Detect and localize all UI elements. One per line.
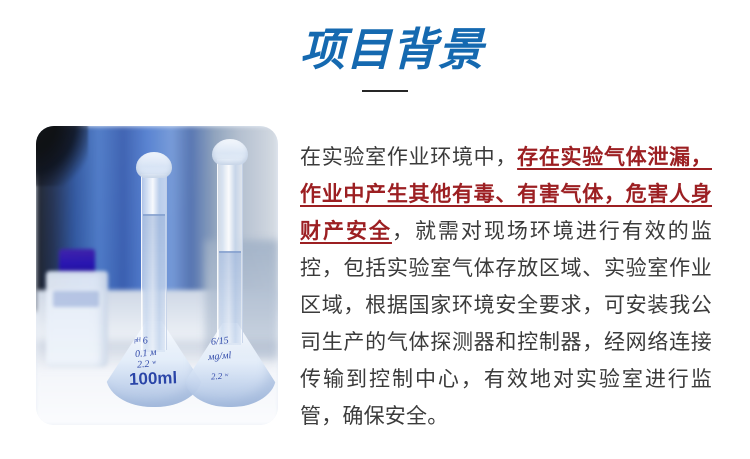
bottle-body [46, 271, 108, 367]
body-paragraph: 在实验室作业环境中，存在实验气体泄漏，作业中产生其他有毒、有害气体，危害人身财产… [300, 139, 712, 435]
flask-volume-label: 100ml [129, 368, 178, 390]
dark-corner-vignette [36, 126, 88, 186]
page-root: 项目背景 [0, 0, 750, 459]
flask-liquid-column [143, 214, 165, 352]
title-divider [362, 90, 408, 92]
flask-handwriting-label: 6/15 [210, 335, 229, 348]
body-text-segment-0: 在实验室作业环境中， [300, 146, 517, 169]
flask-stopper [136, 152, 172, 178]
reagent-bottle [46, 249, 108, 367]
flask-handwriting-label: 2.2 ʷ [211, 371, 229, 382]
flask-liquid-column [219, 251, 241, 345]
header-block: 项目背景 [300, 22, 720, 92]
photo-inner: ᵖᴴ 6 0.1 м 2.2 ʷ 100ml 6/15 мg/мl 2.2 ʷ [36, 126, 278, 425]
volumetric-flask-right [184, 139, 276, 407]
flask-handwriting-label: мg/мl [208, 350, 232, 363]
flask-stopper [212, 139, 248, 165]
laboratory-photo: ᵖᴴ 6 0.1 м 2.2 ʷ 100ml 6/15 мg/мl 2.2 ʷ [36, 126, 278, 425]
body-text-segment-2: ，就需对现场环境进行有效的监控，包括实验室气体存放区域、实验室作业区域，根据国家… [300, 220, 712, 428]
page-title: 项目背景 [300, 22, 720, 78]
flask-handwriting-label: ᵖᴴ 6 [133, 335, 148, 348]
